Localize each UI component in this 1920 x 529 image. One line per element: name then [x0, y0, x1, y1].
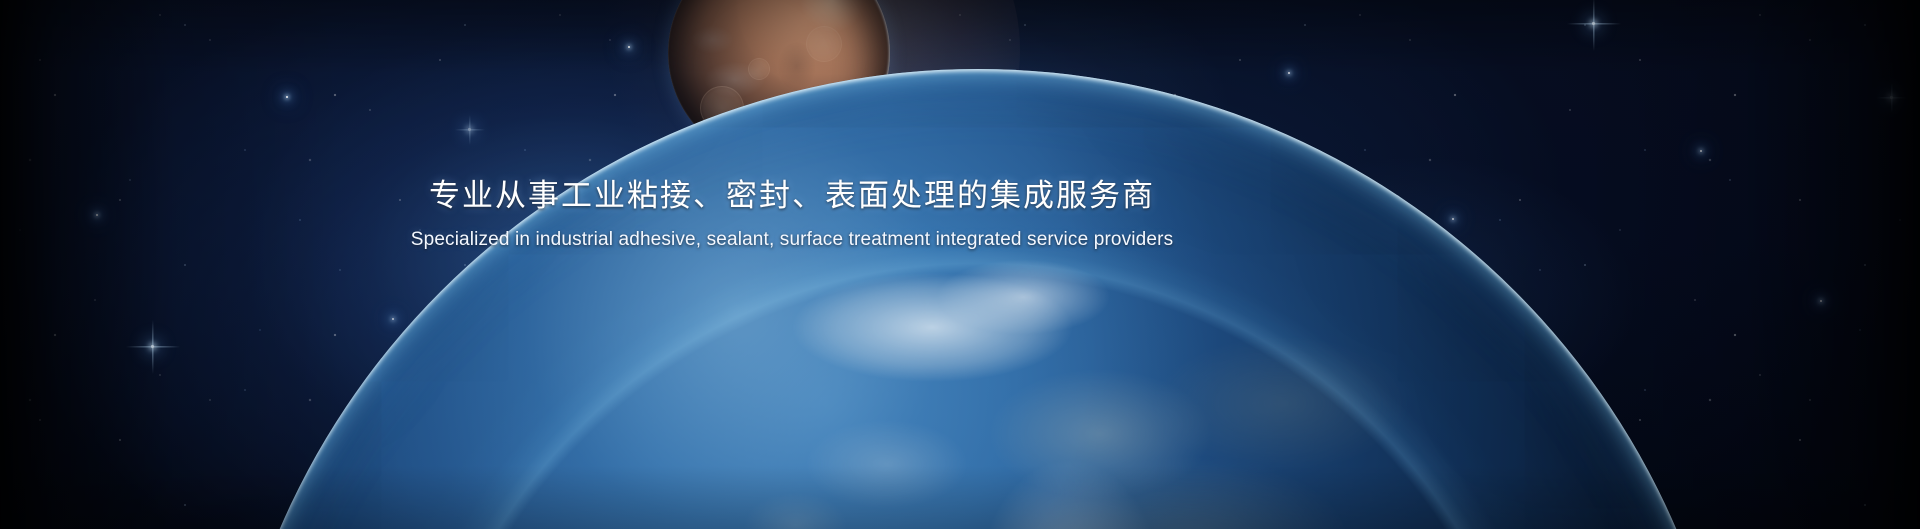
star-layer-mid — [0, 0, 1920, 529]
star-bright — [528, 258, 530, 260]
star-bright — [1820, 300, 1822, 302]
star-flare — [151, 345, 154, 348]
star-flare — [468, 128, 471, 131]
star-bright — [1062, 128, 1064, 130]
starfield — [0, 0, 1920, 529]
star-bright — [1148, 404, 1150, 406]
star-bright — [628, 46, 630, 48]
hero-headline-chinese: 专业从事工业粘接、密封、表面处理的集成服务商 — [0, 176, 1584, 216]
star-bright — [392, 318, 394, 320]
star-bright — [1288, 72, 1290, 74]
hero-text-block: 专业从事工业粘接、密封、表面处理的集成服务商 Specialized in in… — [0, 176, 1584, 252]
star-flare — [1592, 22, 1595, 25]
star-flare — [1240, 262, 1243, 265]
hero-headline-english: Specialized in industrial adhesive, seal… — [0, 228, 1584, 253]
star-bright — [1700, 150, 1702, 152]
star-bright — [286, 96, 288, 98]
hero-banner: 专业从事工业粘接、密封、表面处理的集成服务商 Specialized in in… — [0, 0, 1920, 529]
star-flare — [1890, 96, 1893, 99]
